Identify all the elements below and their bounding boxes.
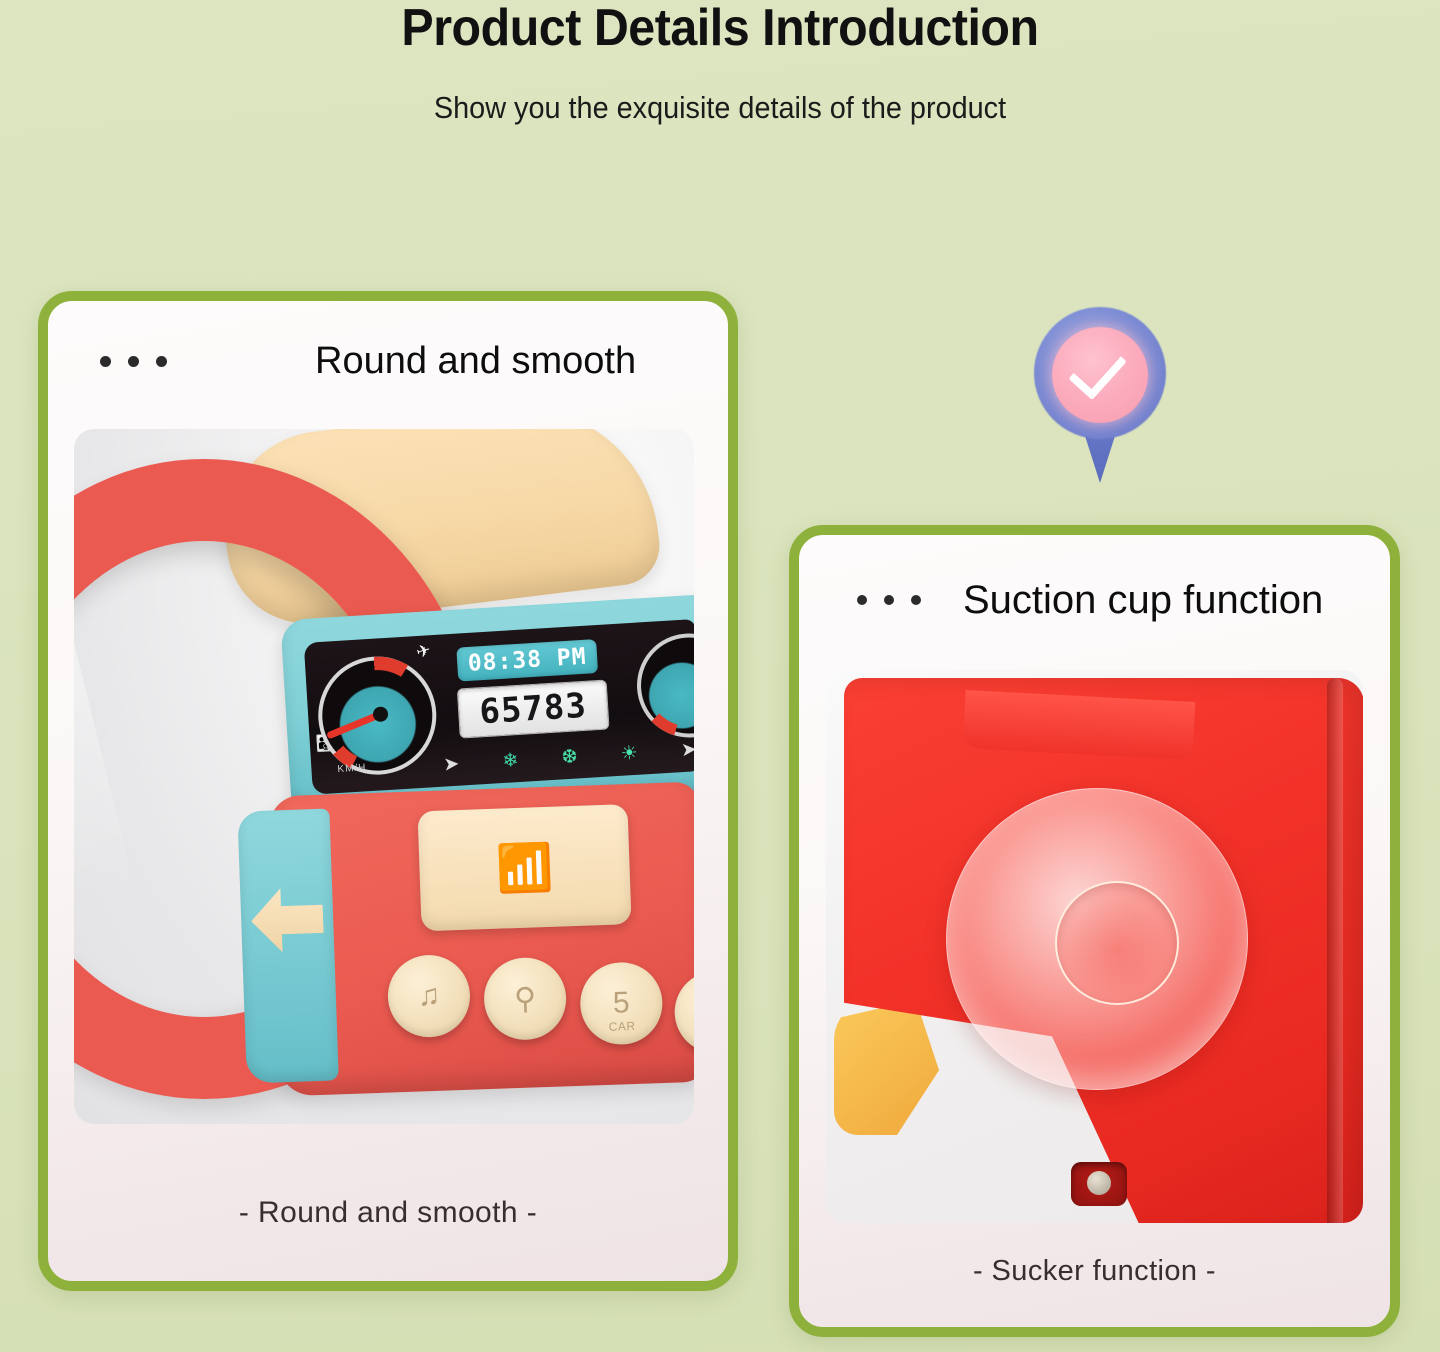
three-dots-icon [100,356,167,367]
steering-wheel-hub: 📶 ♫ ⚲ 5CAR ⏱ [269,782,694,1097]
check-icon [1068,340,1127,400]
horn-signal-icon: 📶 [418,804,632,931]
fuel-gauge [634,630,694,740]
plane-icon: ✈ [414,640,433,663]
steering-icon: ⚲ [483,956,568,1041]
suction-cup-center [1055,881,1179,1005]
snowflake-icon: ❆ [561,747,578,767]
pin-circle [1052,327,1148,423]
page-subtitle: Show you the exquisite details of the pr… [50,54,1389,126]
speed-unit-label: KM/H [337,762,367,775]
dashboard-clock: 08:38 PM [456,639,598,681]
gear-five-icon: 5CAR [579,961,664,1046]
arrow-left-icon: ➤ [443,754,460,774]
hub-button-row: ♫ ⚲ 5CAR ⏱ [386,941,694,1052]
gear-five-label: CAR [608,1019,635,1034]
verified-check-pin [1026,307,1174,491]
detail-card-round-and-smooth[interactable]: Round and smooth ✈ 👪 KM/H 08:38 PM 65783 [38,291,738,1291]
detail-card-suction-cup-function[interactable]: Suction cup function - Sucker function - [789,525,1400,1337]
speedometer-needle [326,711,382,740]
suction-cup [946,788,1248,1090]
yellow-accent-part [834,1000,939,1135]
speedometer-gauge [315,653,440,778]
page-title: Product Details Introduction [50,0,1389,54]
page-header: Product Details Introduction Show you th… [0,0,1440,126]
card-title: Round and smooth [315,340,636,383]
music-note-icon: ♫ [387,954,472,1039]
sun-icon: ☀ [620,743,638,763]
screw-icon [1071,1162,1127,1206]
card-caption: - Round and smooth - [48,1196,728,1230]
fan-icon: ❄ [502,751,519,771]
card-caption: - Sucker function - [799,1255,1390,1288]
hub-teal-panel [237,808,338,1083]
card-header: Round and smooth [48,301,738,421]
card-header: Suction cup function [799,535,1400,665]
three-dots-icon [857,595,921,605]
mount-notch [963,690,1196,760]
speedometer-icon: ⏱ [673,970,694,1055]
product-photo-suction-cup [826,670,1363,1223]
mount-edge-highlight [1327,678,1343,1223]
dashboard-icon-strip: ➤ ❄ ❆ ☀ ➤ [436,731,694,783]
dashboard-screen: ✈ 👪 KM/H 08:38 PM 65783 ➤ ❄ ❆ ☀ ➤ [304,619,694,795]
card-title: Suction cup function [963,578,1323,623]
dashboard-odometer: 65783 [457,680,610,739]
product-photo-steering-wheel: ✈ 👪 KM/H 08:38 PM 65783 ➤ ❄ ❆ ☀ ➤ [74,429,694,1124]
arrow-right-icon: ➤ [680,740,694,760]
